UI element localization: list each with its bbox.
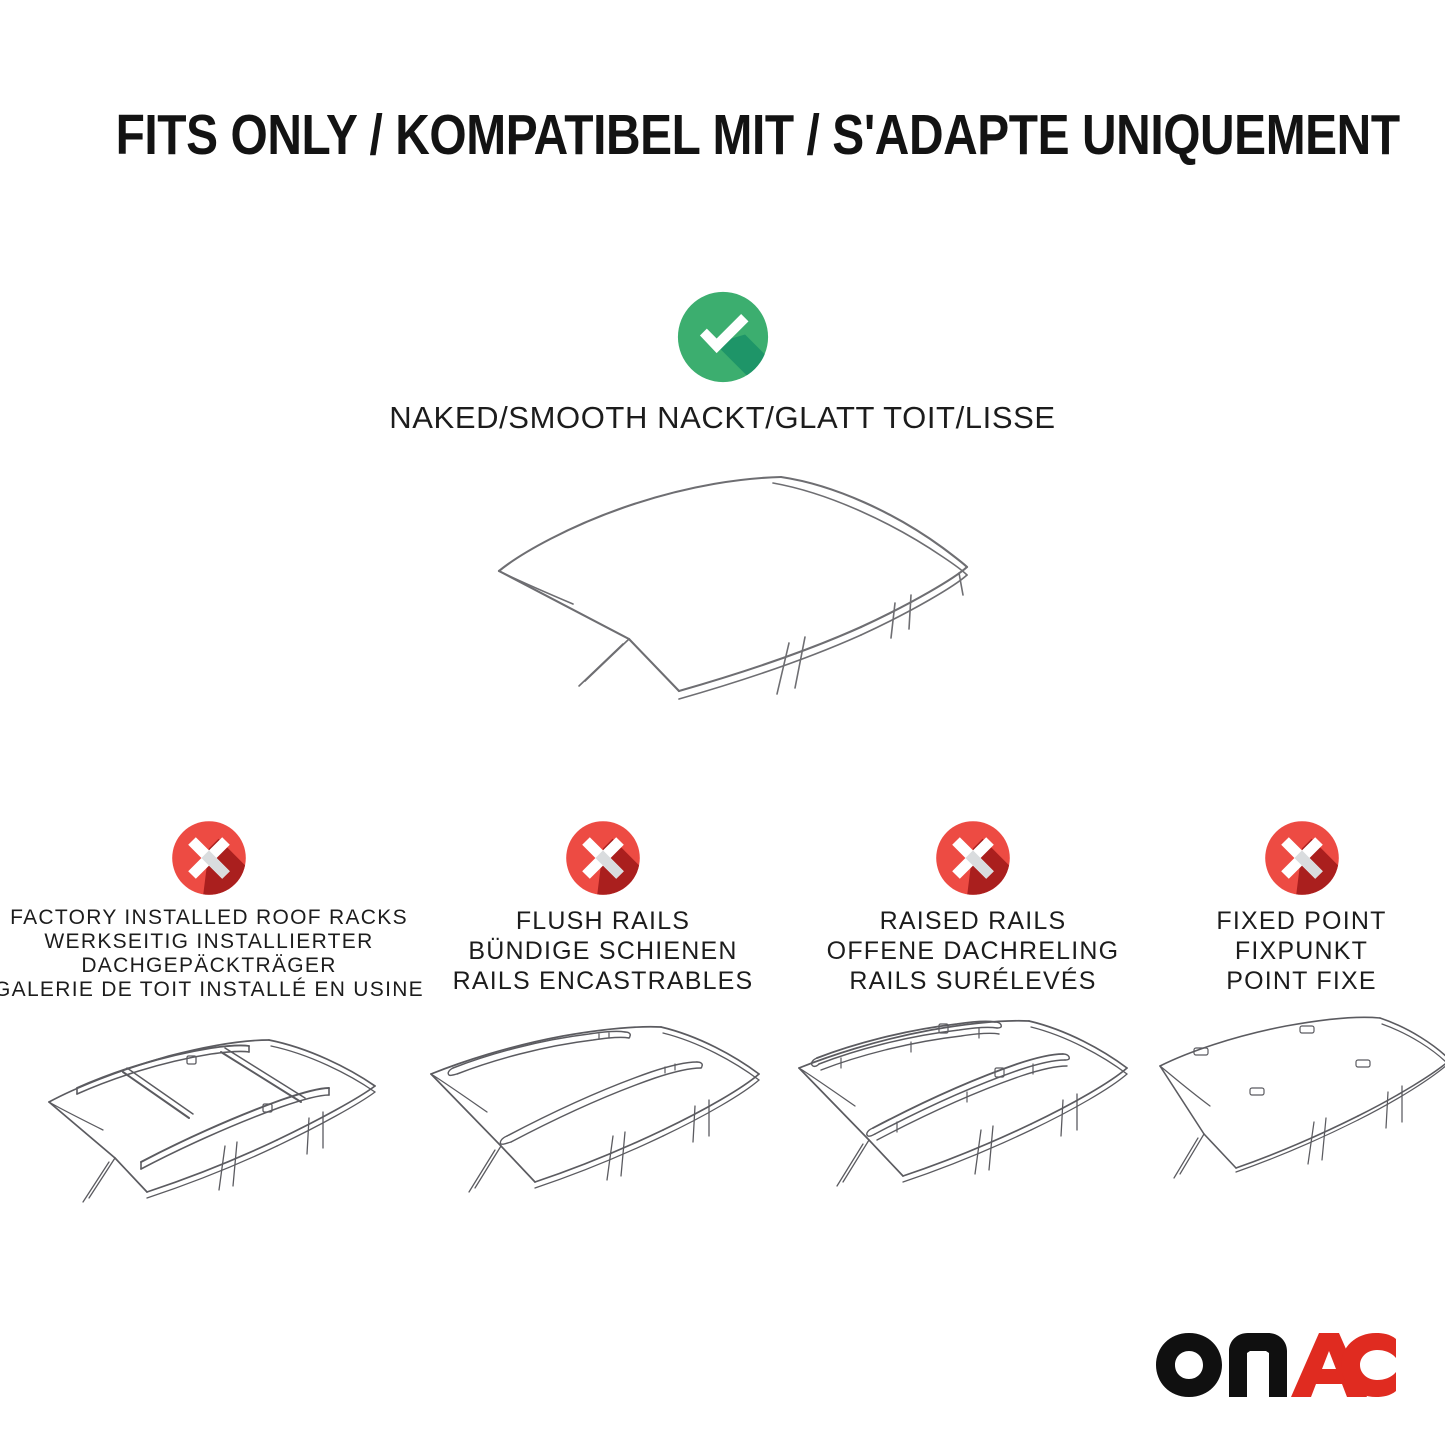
caption-line-de: FIXPUNKT (1216, 936, 1386, 966)
incompatible-item-factory-installed-roof-racks: FACTORY INSTALLED ROOF RACKS WERKSEITIG … (0, 818, 418, 1233)
check-circle-icon (674, 288, 772, 386)
compatible-caption-line-fr: TOIT/LISSE (883, 400, 1056, 435)
incompatible-caption: RAISED RAILS OFFENE DACHRELING RAILS SUR… (827, 906, 1120, 996)
caption-line-en: FLUSH RAILS (453, 906, 754, 936)
cross-circle-icon (1262, 818, 1342, 898)
infographic-page: FITS ONLY / KOMPATIBEL MIT / S'ADAPTE UN… (0, 0, 1445, 1445)
caption-line-en: FIXED POINT (1216, 906, 1386, 936)
incompatible-row: FACTORY INSTALLED ROOF RACKS WERKSEITIG … (0, 818, 1445, 1233)
incompatible-item-flush-rails: FLUSH RAILS BÜNDIGE SCHIENEN RAILS ENCAS… (418, 818, 788, 1227)
compatible-caption: NAKED/SMOOTH NACKT/GLATT TOIT/LISSE (389, 400, 1055, 435)
caption-line-fr: POINT FIXE (1216, 966, 1386, 996)
caption-line-en: FACTORY INSTALLED ROOF RACKS (0, 906, 424, 930)
incompatible-item-fixed-point: FIXED POINT FIXPUNKT POINT FIXE (1158, 818, 1445, 1227)
caption-line-fr: GALERIE DE TOIT INSTALLÉ EN USINE (0, 978, 424, 1002)
page-title: FITS ONLY / KOMPATIBEL MIT / S'ADAPTE UN… (116, 103, 1330, 167)
caption-line-fr: RAILS SURÉLEVÉS (827, 966, 1120, 996)
cross-circle-icon (933, 818, 1013, 898)
caption-line-de: OFFENE DACHRELING (827, 936, 1120, 966)
car-roof-flush-rails-illustration (413, 1012, 793, 1227)
car-roof-raised-rails-illustration (783, 1012, 1163, 1227)
cross-circle-icon (169, 818, 249, 898)
caption-line-de-2: DACHGEPÄCKTRÄGER (0, 954, 424, 978)
car-roof-fixed-point-illustration (1152, 1012, 1445, 1227)
compatible-block: NAKED/SMOOTH NACKT/GLATT TOIT/LISSE (0, 288, 1445, 703)
car-roof-factory-roof-rack-illustration (19, 1018, 399, 1233)
cross-circle-icon (563, 818, 643, 898)
caption-line-de-1: WERKSEITIG INSTALLIERTER (0, 930, 424, 954)
incompatible-caption: FIXED POINT FIXPUNKT POINT FIXE (1216, 906, 1386, 996)
car-roof-naked-smooth-illustration (443, 453, 1003, 703)
incompatible-caption: FLUSH RAILS BÜNDIGE SCHIENEN RAILS ENCAS… (453, 906, 754, 996)
incompatible-caption: FACTORY INSTALLED ROOF RACKS WERKSEITIG … (0, 906, 424, 1002)
compatible-caption-line-en: NAKED/SMOOTH (389, 400, 648, 435)
caption-line-fr: RAILS ENCASTRABLES (453, 966, 754, 996)
caption-line-de: BÜNDIGE SCHIENEN (453, 936, 754, 966)
compatible-caption-line-de: NACKT/GLATT (657, 400, 874, 435)
omac-logo (1153, 1329, 1399, 1401)
incompatible-item-raised-rails: RAISED RAILS OFFENE DACHRELING RAILS SUR… (788, 818, 1158, 1227)
caption-line-en: RAISED RAILS (827, 906, 1120, 936)
